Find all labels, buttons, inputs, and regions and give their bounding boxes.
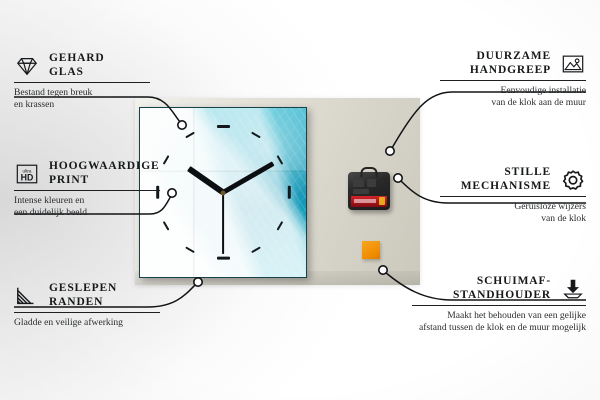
battery: [351, 196, 387, 207]
feature-title-line1: GESLEPEN: [49, 282, 117, 296]
feature-desc-line1: Gladde en veilige afwerking: [14, 317, 160, 328]
feature-title: HOOGWAARDIGE PRINT: [49, 160, 160, 187]
feature-title: GESLEPEN RANDEN: [49, 282, 117, 309]
feature-title-line2: RANDEN: [49, 296, 117, 310]
feature-description: Bestand tegen breuk en krassen: [14, 87, 150, 110]
feature-divider: [412, 305, 586, 306]
clock-hub: [221, 190, 226, 195]
feature-description: Intense kleuren en een duidelijk beeld: [14, 195, 160, 218]
battery-plus-terminal: [379, 197, 385, 205]
feature-header: SCHUIMAF- STANDHOUDER: [412, 275, 586, 302]
feature-title-line1: DUURZAME: [470, 50, 551, 64]
feature-divider: [440, 196, 586, 197]
wall-clock: [139, 107, 307, 278]
ultra-hd-icon: ultra HD: [14, 162, 40, 186]
movement-detail-b: [367, 179, 376, 187]
feature-header: GESLEPEN RANDEN: [14, 282, 160, 309]
diamond-icon: [14, 54, 40, 78]
feature-desc-line2: een duidelijk beeld: [14, 207, 160, 218]
feature-title-line2: GLAS: [49, 66, 105, 80]
feature-title-line2: STANDHOUDER: [453, 289, 551, 303]
feature-stille-mechanisme: STILLE MECHANISME Geruisloze wijzers van…: [440, 166, 586, 224]
product-photo: [135, 98, 420, 285]
feature-divider: [14, 82, 150, 83]
feature-gehard-glas: GEHARD GLAS Bestand tegen breuk en krass…: [14, 52, 150, 110]
movement-detail-a: [353, 179, 364, 187]
feature-desc-line2: en krassen: [14, 99, 150, 110]
feature-desc-line1: Geruisloze wijzers: [440, 201, 586, 212]
feature-description: Maakt het behouden van een gelijke afsta…: [412, 310, 586, 333]
hour-marker: [217, 257, 230, 260]
feature-divider: [14, 312, 160, 313]
foam-spacer: [362, 241, 380, 259]
feature-desc-line2: van de klok: [440, 213, 586, 224]
feature-title: DUURZAME HANDGREEP: [470, 50, 551, 77]
hanger-knob: [361, 167, 378, 177]
clock-movement: [348, 172, 390, 210]
feature-title-line1: STILLE: [461, 166, 551, 180]
feature-header: GEHARD GLAS: [14, 52, 150, 79]
bevelled-edge-icon: [14, 284, 40, 308]
feature-title-line2: MECHANISME: [461, 180, 551, 194]
feature-header: DUURZAME HANDGREEP: [440, 50, 586, 77]
movement-detail-c: [353, 189, 369, 194]
feature-duurzame-handgreep: DUURZAME HANDGREEP Eenvoudige installati…: [440, 50, 586, 108]
picture-frame-icon: [560, 52, 586, 76]
feature-title-line1: SCHUIMAF-: [453, 275, 551, 289]
feature-divider: [440, 80, 586, 81]
feature-geslepen-randen: GESLEPEN RANDEN Gladde en veilige afwerk…: [14, 282, 160, 329]
feature-desc-line1: Intense kleuren en: [14, 195, 160, 206]
ultra-hd-icon-bottom-label: HD: [21, 172, 34, 182]
feature-header: STILLE MECHANISME: [440, 166, 586, 193]
feature-header: ultra HD HOOGWAARDIGE PRINT: [14, 160, 160, 187]
hour-marker: [217, 125, 230, 128]
feature-desc-line2: van de klok aan de muur: [440, 97, 586, 108]
feature-desc-line1: Bestand tegen breuk: [14, 87, 150, 98]
feature-hoogwaardige-print: ultra HD HOOGWAARDIGE PRINT Intense kleu…: [14, 160, 160, 218]
feature-desc-line1: Maakt het behouden van een gelijke: [412, 310, 586, 321]
feature-description: Gladde en veilige afwerking: [14, 317, 160, 328]
feature-title: SCHUIMAF- STANDHOUDER: [453, 275, 551, 302]
second-hand: [222, 192, 224, 254]
feature-description: Geruisloze wijzers van de klok: [440, 201, 586, 224]
feature-title-line2: HANDGREEP: [470, 64, 551, 78]
feature-schuimafstandhouder: SCHUIMAF- STANDHOUDER Maakt het behouden…: [412, 275, 586, 333]
feature-title-line1: GEHARD: [49, 52, 105, 66]
feature-title-line1: HOOGWAARDIGE: [49, 160, 160, 174]
battery-label: [354, 199, 376, 203]
feature-desc-line1: Eenvoudige installatie: [440, 85, 586, 96]
feature-title: STILLE MECHANISME: [461, 166, 551, 193]
feature-description: Eenvoudige installatie van de klok aan d…: [440, 85, 586, 108]
feature-desc-line2: afstand tussen de klok en de muur mogeli…: [412, 322, 586, 333]
feature-title: GEHARD GLAS: [49, 52, 105, 79]
feature-divider: [14, 190, 160, 191]
feature-title-line2: PRINT: [49, 174, 160, 188]
infographic-canvas: GEHARD GLAS Bestand tegen breuk en krass…: [0, 0, 600, 400]
press-down-arrow-icon: [560, 277, 586, 301]
hour-marker: [288, 186, 291, 199]
gear-icon: [560, 168, 586, 192]
